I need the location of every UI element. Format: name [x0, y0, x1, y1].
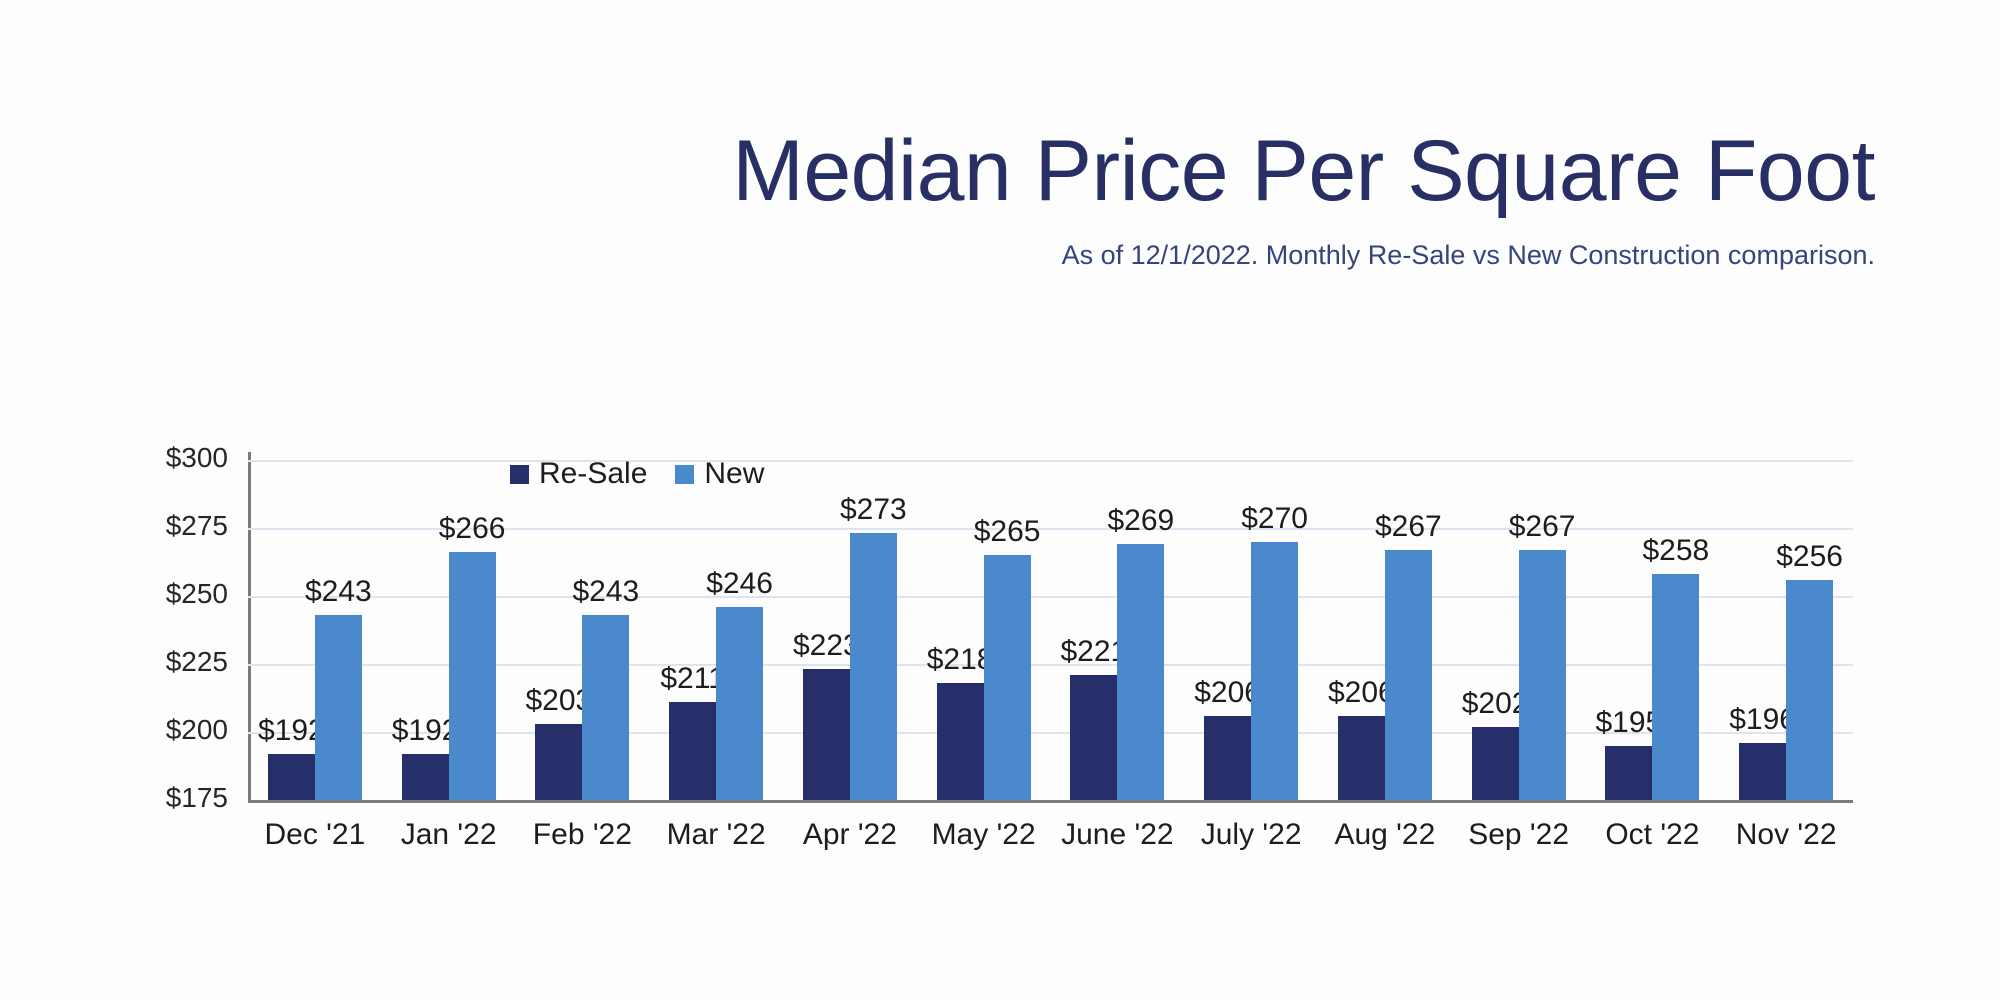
y-tick-label: $200 — [78, 714, 228, 746]
x-tick-label: Aug '22 — [1334, 818, 1435, 852]
bar-new[interactable] — [1786, 580, 1833, 800]
x-tick-label: Apr '22 — [803, 818, 897, 852]
y-tick-label: $175 — [78, 782, 228, 814]
legend-swatch-icon — [675, 465, 694, 484]
x-tick-label: July '22 — [1201, 818, 1302, 852]
x-tick-label: Jan '22 — [401, 818, 497, 852]
x-axis-line — [248, 800, 1853, 803]
x-tick-label: Feb '22 — [533, 818, 632, 852]
y-tick-label: $250 — [78, 578, 228, 610]
bar-re-sale[interactable] — [1739, 743, 1786, 800]
x-tick-label: Oct '22 — [1605, 818, 1699, 852]
legend-label: Re-Sale — [539, 457, 647, 491]
legend-item-new[interactable]: New — [675, 457, 764, 491]
bar-value-label: $256 — [1776, 540, 1843, 574]
legend-label: New — [704, 457, 764, 491]
page-title: Median Price Per Square Foot — [0, 0, 1875, 214]
x-tick-label: May '22 — [932, 818, 1036, 852]
x-tick-label: June '22 — [1061, 818, 1174, 852]
bar-group: $196$256 — [248, 460, 1853, 800]
chart-header: Median Price Per Square Foot As of 12/1/… — [0, 0, 1875, 271]
chart-legend: Re-SaleNew — [510, 457, 764, 491]
y-tick-label: $225 — [78, 646, 228, 678]
legend-swatch-icon — [510, 465, 529, 484]
y-tick-label: $300 — [78, 442, 228, 474]
legend-item-re-sale[interactable]: Re-Sale — [510, 457, 647, 491]
bars-layer: $192$243$192$266$203$243$211$246$223$273… — [248, 460, 1853, 800]
x-axis-tick-labels: Dec '21Jan '22Feb '22Mar '22Apr '22May '… — [248, 818, 1853, 868]
plot-area: $192$243$192$266$203$243$211$246$223$273… — [248, 460, 1853, 800]
x-tick-label: Mar '22 — [667, 818, 766, 852]
x-tick-label: Sep '22 — [1468, 818, 1569, 852]
y-tick-label: $275 — [78, 510, 228, 542]
chart-page: Median Price Per Square Foot As of 12/1/… — [0, 0, 2000, 1000]
x-tick-label: Nov '22 — [1736, 818, 1837, 852]
x-tick-label: Dec '21 — [264, 818, 365, 852]
chart-subtitle: As of 12/1/2022. Monthly Re-Sale vs New … — [0, 214, 1875, 271]
